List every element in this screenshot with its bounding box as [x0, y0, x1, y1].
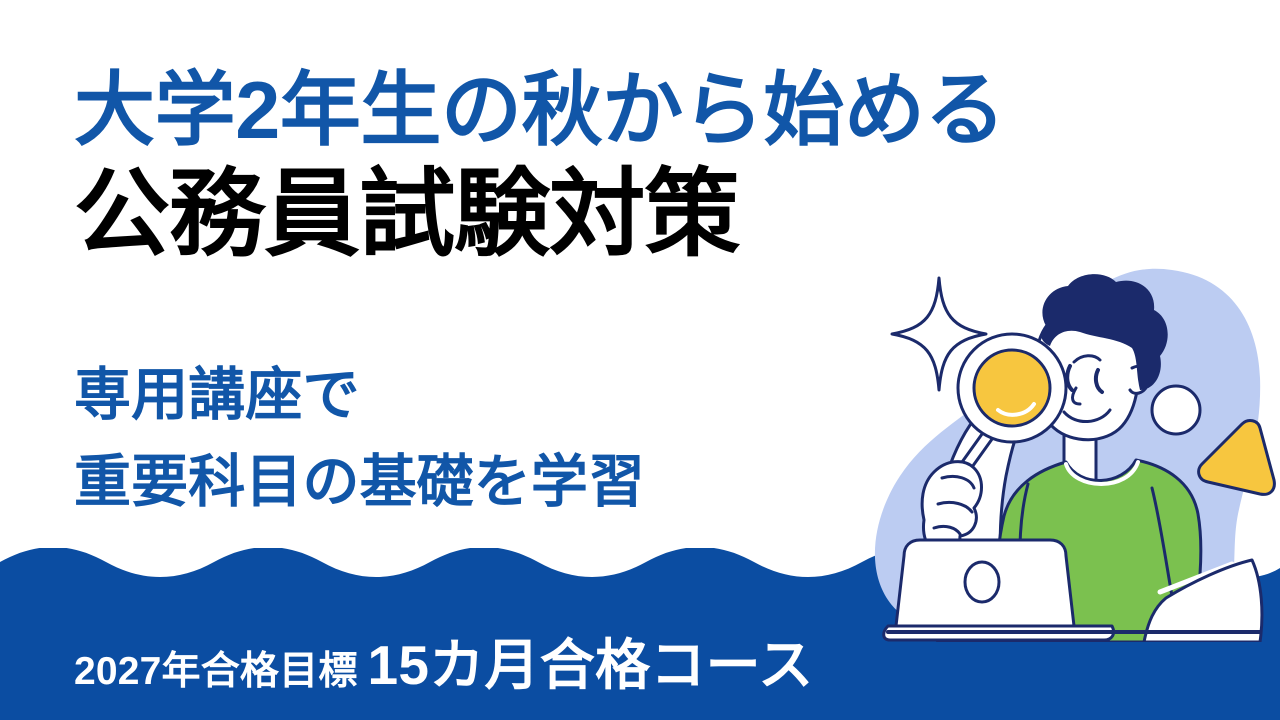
subheadline-block: 専用講座で 重要科目の基礎を学習 — [74, 352, 874, 525]
laptop-screen — [896, 540, 1074, 626]
subheadline-line-2: 重要科目の基礎を学習 — [74, 439, 874, 526]
course-name-label: 15カ月合格コース — [368, 620, 814, 700]
headline-line-1: 大学2年生の秋から始める — [74, 68, 1204, 155]
bottom-banner: 2027年合格目標 15カ月合格コース — [74, 620, 813, 700]
headline-block: 大学2年生の秋から始める 公務員試験対策 — [74, 68, 1204, 269]
target-year-label: 2027年合格目標 — [74, 640, 358, 696]
headline-line-2: 公務員試験対策 — [74, 161, 1204, 269]
course-promo-banner: 大学2年生の秋から始める 公務員試験対策 専用講座で 重要科目の基礎を学習 20… — [0, 0, 1280, 720]
white-circle-decor — [1152, 386, 1200, 434]
subheadline-line-1: 専用講座で — [74, 352, 874, 439]
student-illustration — [860, 262, 1280, 642]
